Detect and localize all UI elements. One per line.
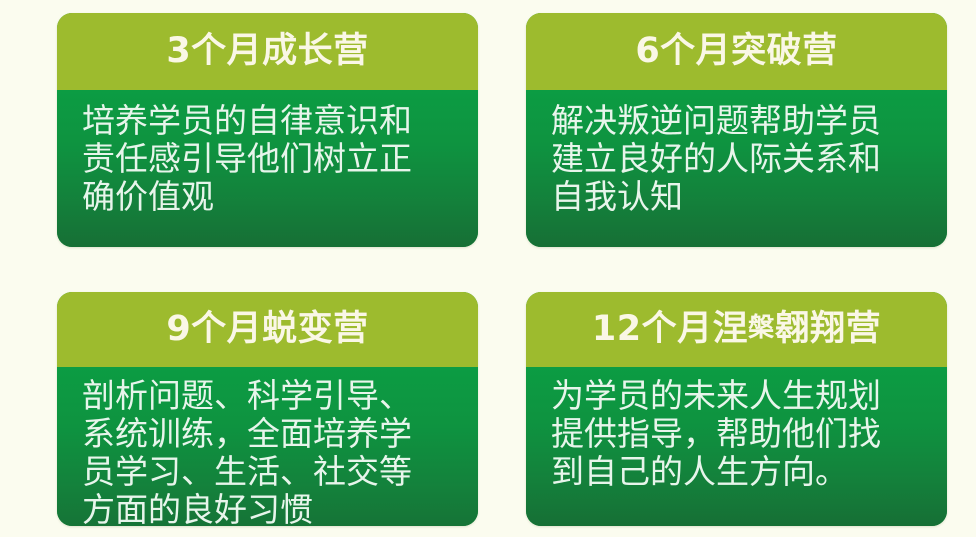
card-header-6-month: 6个月突破营 [526, 13, 947, 90]
card-body-9-month: 剖析问题、科学引导、 系统训练，全面培养学 员学习、生活、社交等 方面的良好习惯 [57, 367, 478, 526]
card-title-text: 3个月成长营 [166, 31, 368, 71]
card-title-text: 9个月蜕变营 [166, 309, 368, 349]
card-header-9-month: 9个月蜕变营 [57, 292, 478, 367]
program-card-3-month[interactable]: 3个月成长营 培养学员的自律意识和 责任感引导他们树立正 确价值观 [57, 13, 478, 247]
card-description-3-month: 培养学员的自律意识和 责任感引导他们树立正 确价值观 [82, 102, 458, 216]
poster-root: 3个月成长营 培养学员的自律意识和 责任感引导他们树立正 确价值观 6个月突破营… [0, 0, 976, 537]
program-card-6-month[interactable]: 6个月突破营 解决叛逆问题帮助学员 建立良好的人际关系和 自我认知 [526, 13, 947, 247]
program-card-9-month[interactable]: 9个月蜕变营 剖析问题、科学引导、 系统训练，全面培养学 员学习、生活、社交等 … [57, 292, 478, 526]
card-body-6-month: 解决叛逆问题帮助学员 建立良好的人际关系和 自我认知 [526, 90, 947, 247]
card-title-text-prefix: 12个月涅 [592, 309, 748, 349]
card-title-text-suffix: 翱翔营 [775, 309, 882, 349]
card-description-12-month: 为学员的未来人生规划 提供指导，帮助他们找 到自己的人生方向。 [551, 377, 927, 491]
card-title-text: 6个月突破营 [635, 31, 837, 71]
card-body-3-month: 培养学员的自律意识和 责任感引导他们树立正 确价值观 [57, 90, 478, 247]
program-card-12-month[interactable]: 12个月涅槃翱翔营 为学员的未来人生规划 提供指导，帮助他们找 到自己的人生方向… [526, 292, 947, 526]
card-description-9-month: 剖析问题、科学引导、 系统训练，全面培养学 员学习、生活、社交等 方面的良好习惯 [82, 377, 458, 526]
card-title-9-month: 9个月蜕变营 [166, 312, 368, 347]
card-body-12-month: 为学员的未来人生规划 提供指导，帮助他们找 到自己的人生方向。 [526, 367, 947, 526]
card-description-6-month: 解决叛逆问题帮助学员 建立良好的人际关系和 自我认知 [551, 102, 927, 216]
card-header-12-month: 12个月涅槃翱翔营 [526, 292, 947, 367]
card-title-text-ruby: 槃 [748, 313, 775, 343]
card-header-3-month: 3个月成长营 [57, 13, 478, 90]
card-title-12-month: 12个月涅槃翱翔营 [592, 312, 881, 347]
card-title-6-month: 6个月突破营 [635, 34, 837, 69]
program-card-grid: 3个月成长营 培养学员的自律意识和 责任感引导他们树立正 确价值观 6个月突破营… [57, 13, 947, 526]
card-title-3-month: 3个月成长营 [166, 34, 368, 69]
